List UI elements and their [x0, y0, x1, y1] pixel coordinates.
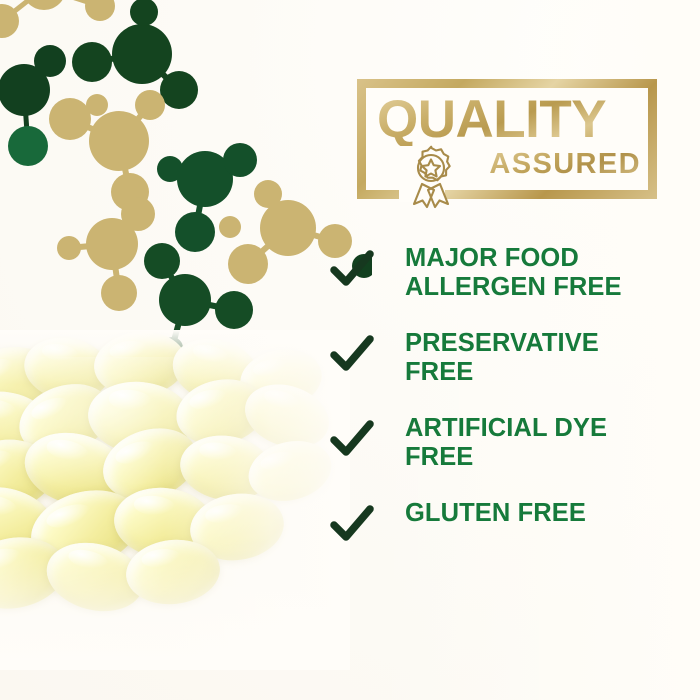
claim-item-preservative-free: PRESERVATIVE FREE	[330, 329, 690, 387]
checkmark-icon	[330, 248, 374, 290]
badge-title: QUALITY	[377, 93, 606, 146]
quality-assured-badge: QUALITY ASSURED	[357, 79, 657, 199]
claim-item-major-food-allergen-free: MAJOR FOOD ALLERGEN FREE	[330, 244, 690, 302]
claim-label: ARTIFICIAL DYE FREE	[405, 414, 690, 472]
claim-label: GLUTEN FREE	[405, 499, 690, 528]
softgel-capsules-photo	[0, 330, 350, 670]
badge-subtitle: ASSURED	[489, 150, 641, 179]
claim-label: PRESERVATIVE FREE	[405, 329, 690, 387]
claim-item-gluten-free: GLUTEN FREE	[330, 499, 690, 545]
product-claims-graphic: QUALITY ASSURED MAJOR FOOD ALLER	[0, 0, 700, 700]
claim-label: MAJOR FOOD ALLERGEN FREE	[405, 244, 690, 302]
claim-item-artificial-dye-free: ARTIFICIAL DYE FREE	[330, 414, 690, 472]
claims-list: MAJOR FOOD ALLERGEN FREE PRESERVATIVE FR…	[330, 244, 690, 545]
checkmark-icon	[330, 418, 374, 460]
checkmark-icon	[330, 333, 374, 375]
checkmark-icon	[330, 503, 374, 545]
rosette-award-icon	[402, 143, 460, 209]
capsule-fade-bottom	[0, 330, 350, 670]
